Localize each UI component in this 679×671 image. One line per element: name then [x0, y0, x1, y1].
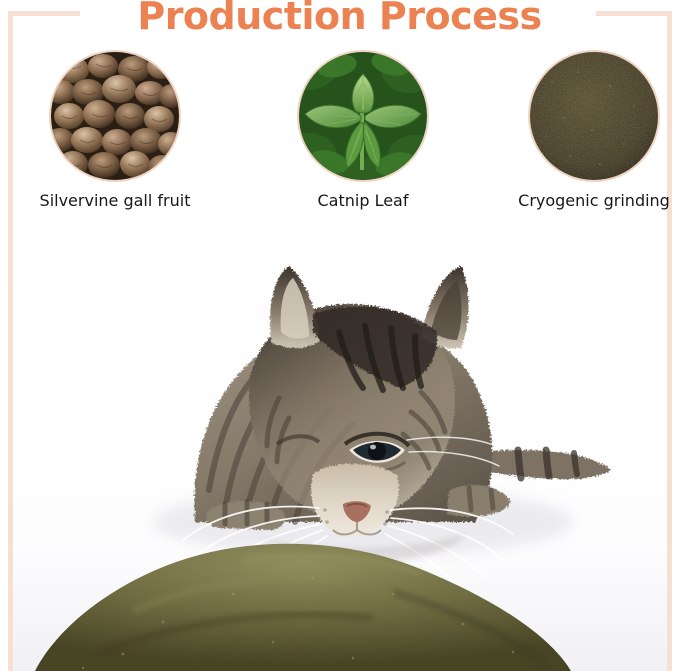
production-process-infographic: Production Process	[0, 0, 679, 671]
ingredient-label: Cryogenic grinding	[494, 191, 679, 210]
ingredient-silvervine-gall-fruit: Silvervine gall fruit	[15, 50, 215, 210]
cat-sniffing-catnip-powder-icon	[13, 222, 667, 671]
cryogenic-ground-powder-icon	[530, 52, 658, 180]
ingredient-label: Silvervine gall fruit	[15, 191, 215, 210]
ingredient-image-wrap	[51, 52, 179, 180]
ingredient-label: Catnip Leaf	[263, 191, 463, 210]
silvervine-gall-fruit-icon	[51, 52, 179, 180]
ingredient-row: Silvervine gall fruit	[13, 50, 667, 225]
catnip-leaf-icon	[299, 52, 427, 180]
ingredient-image-wrap	[530, 52, 658, 180]
hero-photo	[13, 222, 667, 671]
ingredient-cryogenic-grinding: Cryogenic grinding	[494, 50, 679, 210]
ingredient-image-wrap	[299, 52, 427, 180]
ingredient-catnip-leaf: Catnip Leaf	[263, 50, 463, 210]
page-title: Production Process	[0, 0, 679, 38]
